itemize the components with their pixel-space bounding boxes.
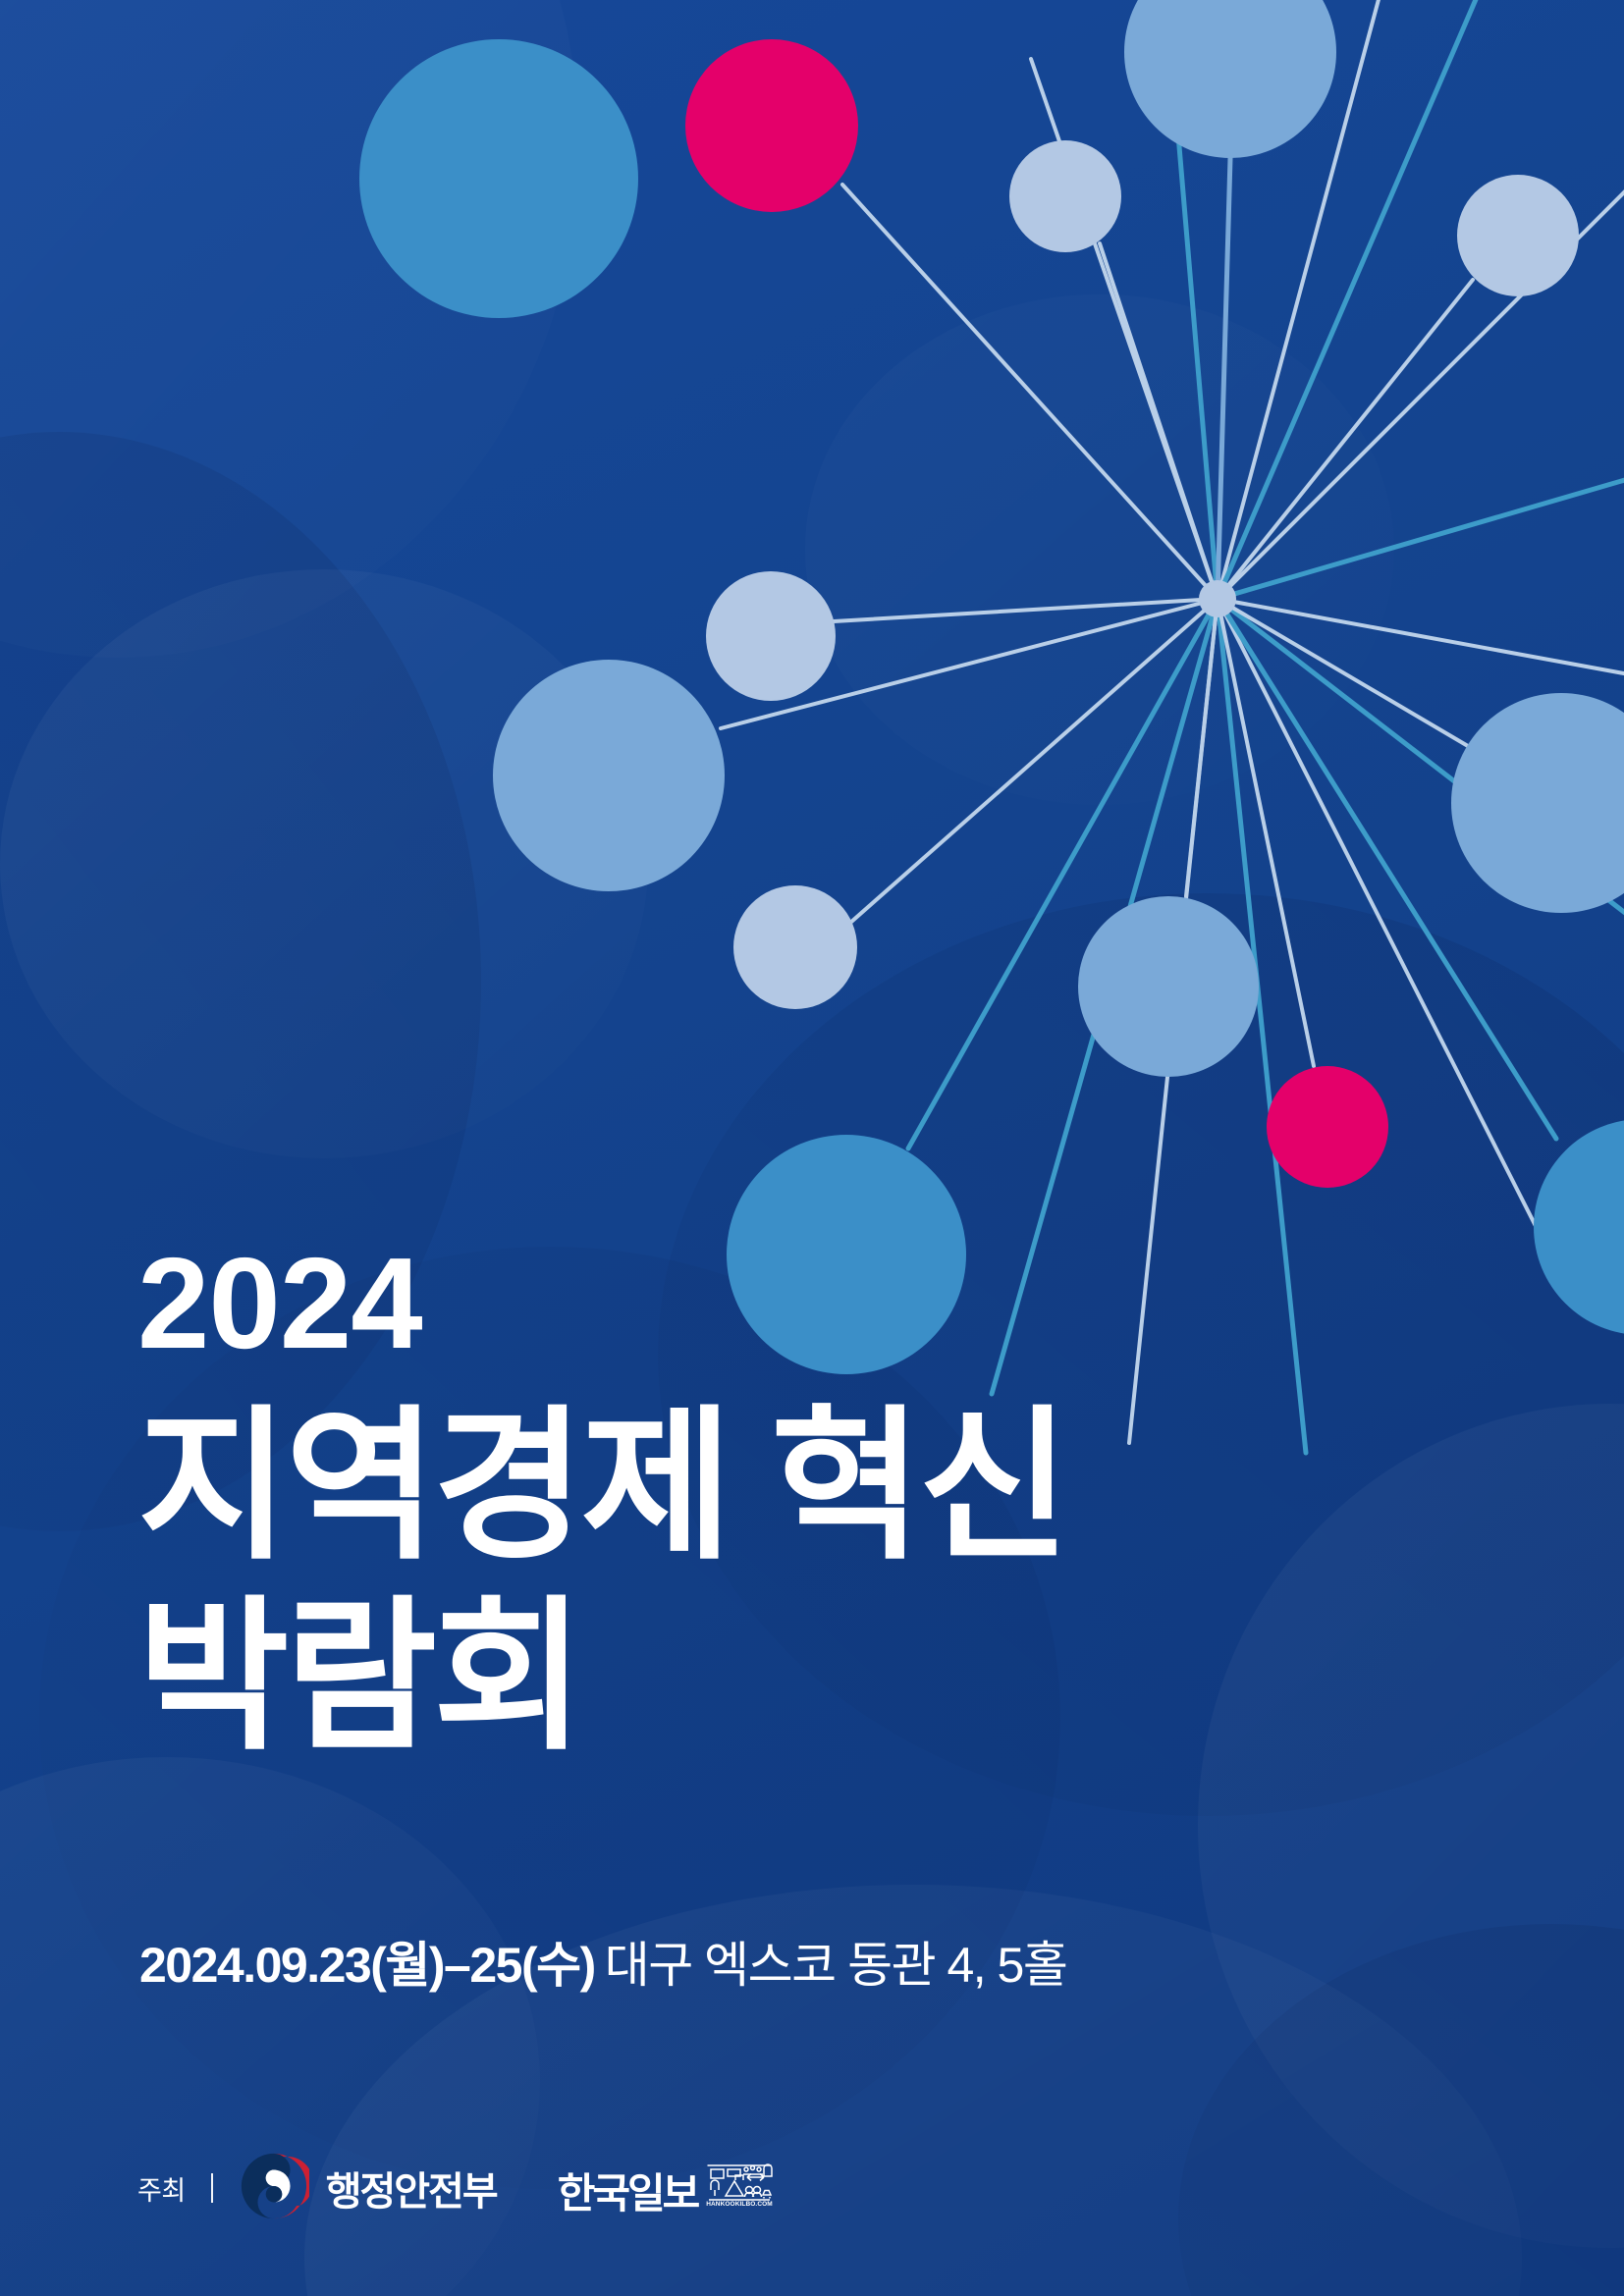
host-label: 주최 (137, 2169, 186, 2208)
organizer-hankookilbo-name: 한국일보 (558, 2173, 698, 2215)
hankookilbo-pictogram-icon: HANKOOKILBO.COM (706, 2163, 773, 2213)
organizer-hankookilbo-logo: 한국일보 (558, 2163, 774, 2215)
korea-government-taegeuk-icon (239, 2151, 309, 2226)
poster-root: 2024 지역경제 혁신 박람회 2024.09.23(월)–25(수)대구 엑… (0, 0, 1624, 2296)
poster-date-venue: 2024.09.23(월)–25(수)대구 엑스코 동관 4, 5홀 (139, 1939, 1066, 1993)
event-venue: 대구 엑스코 동관 4, 5홀 (605, 1938, 1067, 1993)
poster-year: 2024 (137, 1239, 1453, 1368)
footer-divider (211, 2173, 213, 2203)
poster-footer: 주최 행정안 (137, 2152, 773, 2224)
poster-headline-line-2: 박람회 (137, 1584, 1453, 1769)
hankookilbo-url-text: HANKOOKILBO.COM (706, 2201, 773, 2208)
organizer-mois-logo: 행정안전부 (239, 2151, 497, 2226)
poster-headline-line-1: 지역경제 혁신 (137, 1394, 1453, 1578)
organizer-mois-name: 행정안전부 (326, 2160, 497, 2216)
event-date: 2024.09.23(월)–25(수) (139, 1938, 595, 1993)
poster-title-block: 2024 지역경제 혁신 박람회 (137, 1239, 1453, 1769)
